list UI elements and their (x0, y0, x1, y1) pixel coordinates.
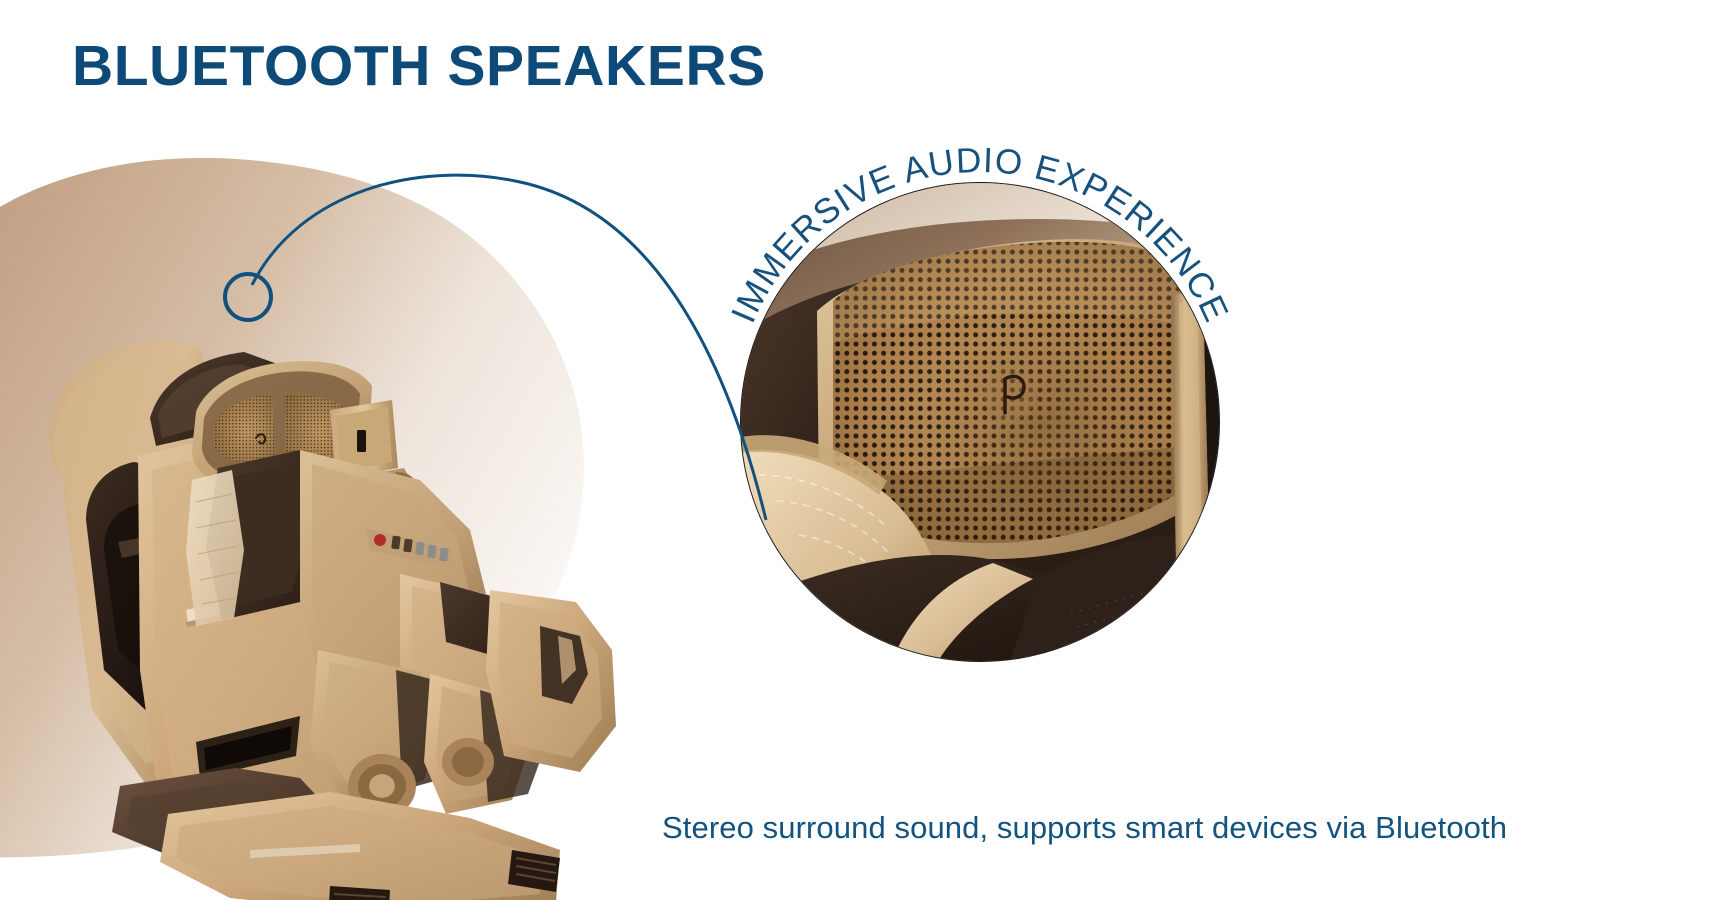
speaker-closeup-inset (740, 182, 1220, 662)
massage-chair-image (0, 150, 700, 900)
feature-caption: Stereo surround sound, supports smart de… (662, 810, 1507, 846)
page-title: BLUETOOTH SPEAKERS (72, 36, 766, 98)
speaker-closeup-image (741, 183, 1220, 662)
inset-circle-frame (740, 182, 1220, 662)
poster-canvas: IMMERSIVE AUDIO EXPERIENCE BLUETOOTH SPE… (0, 0, 1712, 900)
